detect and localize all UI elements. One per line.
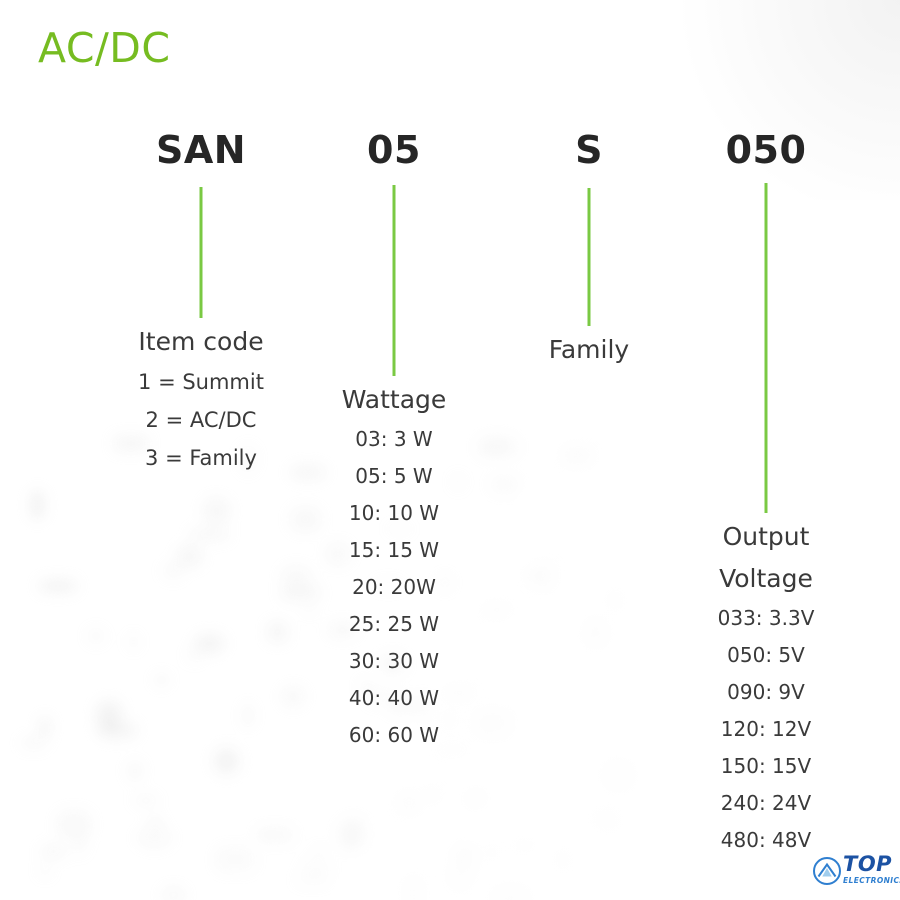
watermark-blob [511, 842, 538, 849]
watermark-blob [555, 848, 572, 872]
watermark-blob [187, 648, 201, 662]
watermark-blob [195, 635, 224, 652]
callout-heading: Output [718, 516, 815, 558]
watermark-blob [137, 829, 173, 847]
watermark-blob [41, 845, 66, 858]
watermark-blob [127, 760, 143, 782]
watermark-blob [479, 438, 517, 456]
page-title: AC/DC [38, 28, 170, 69]
callout-item-code: Item code1 = Summit2 = AC/DC3 = Family [138, 321, 264, 477]
watermark-blob [97, 702, 121, 732]
callout-row: 05: 5 W [342, 458, 447, 495]
watermark-blob [487, 846, 499, 860]
watermark-blob [406, 878, 422, 900]
watermark-blob [296, 877, 328, 884]
callout-family: Family [549, 329, 629, 371]
callout-row: 60: 60 W [342, 717, 447, 754]
watermark-blob [446, 715, 453, 725]
watermark-blob [57, 811, 91, 838]
watermark-blob [594, 806, 624, 834]
watermark-blob [604, 761, 634, 791]
watermark-blob [563, 447, 593, 464]
callout-row: 1 = Summit [138, 363, 264, 401]
callout-row: 033: 3.3V [718, 600, 815, 637]
watermark-blob [149, 819, 162, 826]
watermark-blob [281, 566, 312, 589]
watermark-blob [476, 712, 510, 736]
watermark-blob [190, 529, 229, 540]
watermark-blob [527, 569, 545, 582]
callout-row: 25: 25 W [342, 606, 447, 643]
watermark-blob [468, 794, 485, 803]
watermark-blob [39, 864, 51, 877]
callout-row: 050: 5V [718, 637, 815, 674]
logo-wordmark: TOP ELECTRONICS [843, 854, 899, 886]
callout-row: 30: 30 W [342, 643, 447, 680]
watermark-blob [130, 635, 137, 649]
watermark-blob [314, 848, 326, 855]
watermark-blob [448, 865, 474, 893]
watermark-blob [21, 738, 46, 748]
callout-row: 15: 15 W [342, 532, 447, 569]
watermark-blob [586, 620, 608, 647]
watermark-blob [535, 571, 541, 589]
watermark-blob [291, 508, 320, 531]
watermark-blob [537, 562, 555, 589]
part-code-segment: 05 [367, 128, 421, 172]
watermark-blob [485, 607, 509, 613]
callout-row: 2 = AC/DC [138, 401, 264, 439]
connector-line-item-code [200, 187, 203, 318]
watermark-blob [177, 545, 203, 568]
watermark-blob [217, 848, 255, 871]
callout-row: 40: 40 W [342, 680, 447, 717]
watermark-blob [427, 791, 438, 798]
watermark-blob [453, 475, 464, 489]
watermark-blob [162, 563, 184, 579]
watermark-blob [302, 608, 317, 614]
callout-row: 20: 20W [342, 569, 447, 606]
watermark-blob [73, 831, 87, 855]
callout-row: 150: 15V [718, 748, 815, 785]
logo-subtitle: ELECTRONICS [843, 876, 899, 886]
callout-row: 3 = Family [138, 439, 264, 477]
watermark-blob [31, 490, 44, 520]
watermark-blob [99, 723, 137, 738]
callout-heading: Wattage [342, 379, 447, 421]
watermark-blob [245, 705, 252, 726]
slide-canvas: AC/DC SAN05S050 Item code1 = Summit2 = A… [0, 0, 900, 900]
connector-line-wattage [393, 185, 396, 376]
part-code-segment: S [575, 128, 603, 172]
top-electronics-logo: TOP ELECTRONICS [812, 852, 898, 896]
watermark-blob [492, 886, 531, 900]
watermark-blob [456, 847, 475, 869]
watermark-blob [491, 477, 518, 492]
watermark-blob [291, 466, 325, 479]
watermark-blob [618, 723, 629, 728]
watermark-blob [258, 830, 293, 841]
watermark-blob [162, 888, 185, 900]
callout-row: 03: 3 W [342, 421, 447, 458]
watermark-blob [214, 748, 239, 775]
callout-row: 10: 10 W [342, 495, 447, 532]
background-watermark [0, 420, 640, 900]
top-logo-mark-icon [812, 856, 842, 886]
part-code-segment: SAN [156, 128, 246, 172]
callout-heading: Item code [138, 321, 264, 363]
watermark-blob [269, 623, 287, 641]
connector-line-family [588, 188, 591, 326]
watermark-blob [39, 580, 77, 591]
logo-name: TOP [843, 854, 899, 875]
callout-output-voltage: OutputVoltage033: 3.3V050: 5V090: 9V120:… [718, 516, 815, 859]
callout-heading-line2: Voltage [718, 558, 815, 600]
watermark-blob [397, 792, 421, 814]
watermark-blob [133, 794, 159, 806]
watermark-blob [578, 815, 612, 822]
callout-row: 240: 24V [718, 785, 815, 822]
connector-line-output-voltage [765, 183, 768, 513]
callout-row: 090: 9V [718, 674, 815, 711]
watermark-blob [446, 688, 474, 698]
watermark-blob [88, 629, 105, 644]
watermark-blob [282, 687, 304, 706]
callout-row: 480: 48V [718, 822, 815, 859]
part-code-segment: 050 [726, 128, 807, 172]
callout-row: 120: 12V [718, 711, 815, 748]
watermark-blob [356, 819, 364, 847]
watermark-blob [155, 675, 168, 686]
watermark-fade-overlay [0, 400, 680, 900]
watermark-blob [301, 858, 331, 881]
callout-heading: Family [549, 329, 629, 371]
callout-wattage: Wattage03: 3 W05: 5 W10: 10 W15: 15 W20:… [342, 379, 447, 754]
watermark-blob [282, 587, 319, 599]
watermark-blob [610, 591, 622, 612]
watermark-blob [340, 820, 364, 850]
watermark-blob [40, 717, 49, 737]
watermark-blob [203, 498, 230, 524]
